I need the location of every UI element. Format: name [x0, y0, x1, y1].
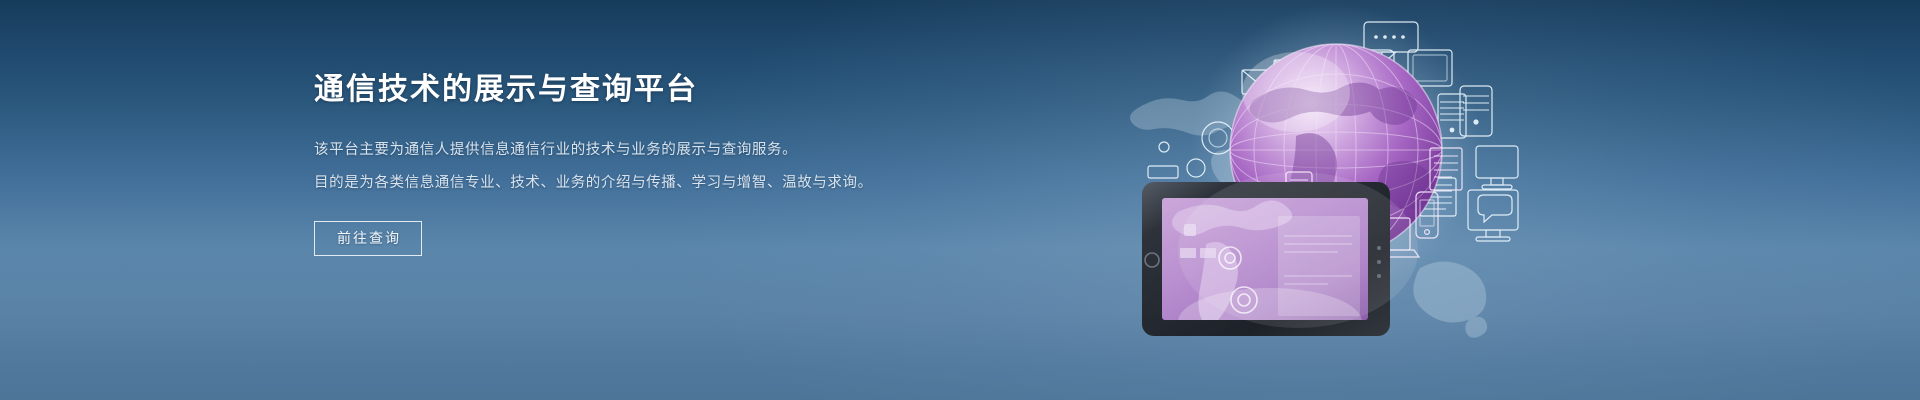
artwork-glow [1178, 172, 1418, 328]
cta-container: 前往查询 [314, 221, 934, 256]
go-to-query-button[interactable]: 前往查询 [314, 221, 422, 256]
hero-artwork: i [1120, 0, 1520, 400]
hero-banner: 通信技术的展示与查询平台 该平台主要为通信人提供信息通信行业的技术与业务的展示与… [0, 0, 1920, 400]
description-line-1: 该平台主要为通信人提供信息通信行业的技术与业务的展示与查询服务。 [314, 134, 934, 167]
description-line-2: 目的是为各类信息通信专业、技术、业务的介绍与传播、学习与增智、温故与求询。 [314, 167, 934, 200]
page-title: 通信技术的展示与查询平台 [314, 72, 934, 108]
desktop-monitor-icon [1476, 146, 1518, 189]
banner-content: 通信技术的展示与查询平台 该平台主要为通信人提供信息通信行业的技术与业务的展示与… [314, 72, 934, 256]
artwork-svg: i [1120, 0, 1520, 400]
monitor-chat-icon [1468, 190, 1518, 241]
